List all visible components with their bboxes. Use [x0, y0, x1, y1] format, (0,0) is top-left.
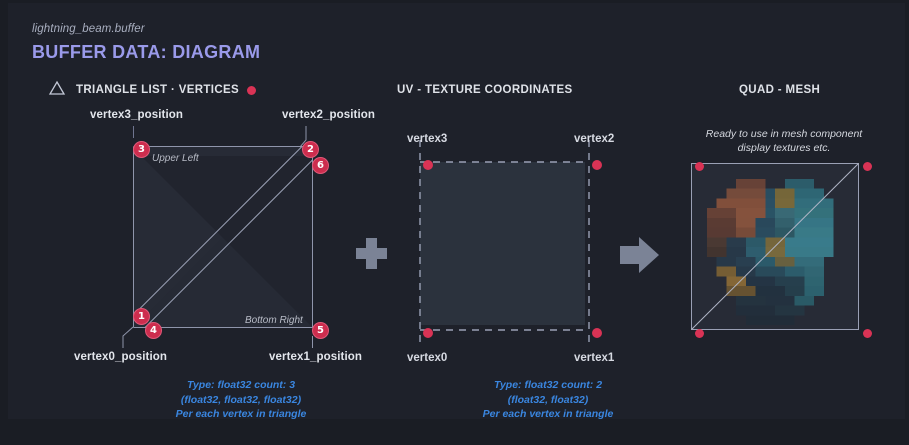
vertex-badge-4[interactable]: 4 [145, 322, 162, 339]
label-vertex2-position: vertex2_position [282, 109, 375, 121]
uv-dot-vertex0[interactable] [423, 328, 433, 338]
label-uv-vertex0: vertex0 [407, 352, 447, 364]
caption-uv-line3: Per each vertex in triangle [434, 407, 662, 422]
heading-uv-label: UV - TEXTURE COORDINATES [397, 84, 573, 96]
label-vertex0-position: vertex0_position [74, 351, 167, 363]
buffer-filename: lightning_beam.buffer [32, 23, 145, 35]
quad-dot-top-right[interactable] [863, 162, 872, 171]
arrow-right-icon [620, 237, 659, 273]
label-uv-vertex3: vertex3 [407, 133, 447, 145]
uv-square-geometry [420, 140, 589, 348]
vertex-badge-2[interactable]: 2 [302, 141, 319, 158]
quad-dot-top-left[interactable] [695, 162, 704, 171]
heading-triangle-list-label: TRIANGLE LIST · VERTICES [76, 84, 239, 96]
caption-uv-line1: Type: float32 count: 2 [434, 378, 662, 393]
caption-triangle-buffer: Type: float32 count: 3 (float32, float32… [112, 378, 370, 422]
diagram-window: lightning_beam.buffer BUFFER DATA: DIAGR… [0, 0, 909, 445]
page-title: BUFFER DATA: DIAGRAM [32, 42, 260, 63]
uv-dot-vertex2[interactable] [592, 160, 602, 170]
vertex-badge-5[interactable]: 5 [312, 322, 329, 339]
label-uv-vertex1: vertex1 [574, 352, 614, 364]
quad-mesh-note: Ready to use in mesh component display t… [696, 127, 872, 155]
quad-mesh-note-line1: Ready to use in mesh component [696, 127, 872, 141]
plus-icon [356, 238, 387, 269]
caption-triangle-line3: Per each vertex in triangle [112, 407, 370, 422]
quad-mesh-geometry [692, 164, 859, 330]
label-uv-vertex2: vertex2 [574, 133, 614, 145]
caption-uv-buffer: Type: float32 count: 2 (float32, float32… [434, 378, 662, 422]
heading-uv-texture-coordinates: UV - TEXTURE COORDINATES [397, 84, 573, 96]
caption-triangle-line2: (float32, float32, float32) [112, 393, 370, 408]
caption-triangle-line1: Type: float32 count: 3 [112, 378, 370, 393]
quad-dot-bottom-right[interactable] [863, 329, 872, 338]
uv-dot-vertex1[interactable] [592, 328, 602, 338]
heading-quad-label: QUAD - MESH [739, 84, 820, 96]
quad-mesh-note-line2: display textures etc. [696, 141, 872, 155]
red-dot-icon [247, 86, 256, 95]
annotation-upper-left: Upper Left [152, 153, 199, 164]
heading-quad-mesh: QUAD - MESH [739, 84, 820, 96]
vertex-badge-3[interactable]: 3 [133, 141, 150, 158]
label-vertex1-position: vertex1_position [269, 351, 362, 363]
label-vertex3-position: vertex3_position [90, 109, 183, 121]
caption-uv-line2: (float32, float32) [434, 393, 662, 408]
triangle-outline-icon-slot [58, 85, 71, 97]
annotation-bottom-right: Bottom Right [245, 315, 303, 326]
vertex-badge-6[interactable]: 6 [312, 157, 329, 174]
uv-dot-vertex3[interactable] [423, 160, 433, 170]
heading-triangle-list: TRIANGLE LIST · VERTICES [58, 84, 256, 96]
vertex-badge-1[interactable]: 1 [133, 308, 150, 325]
quad-dot-bottom-left[interactable] [695, 329, 704, 338]
